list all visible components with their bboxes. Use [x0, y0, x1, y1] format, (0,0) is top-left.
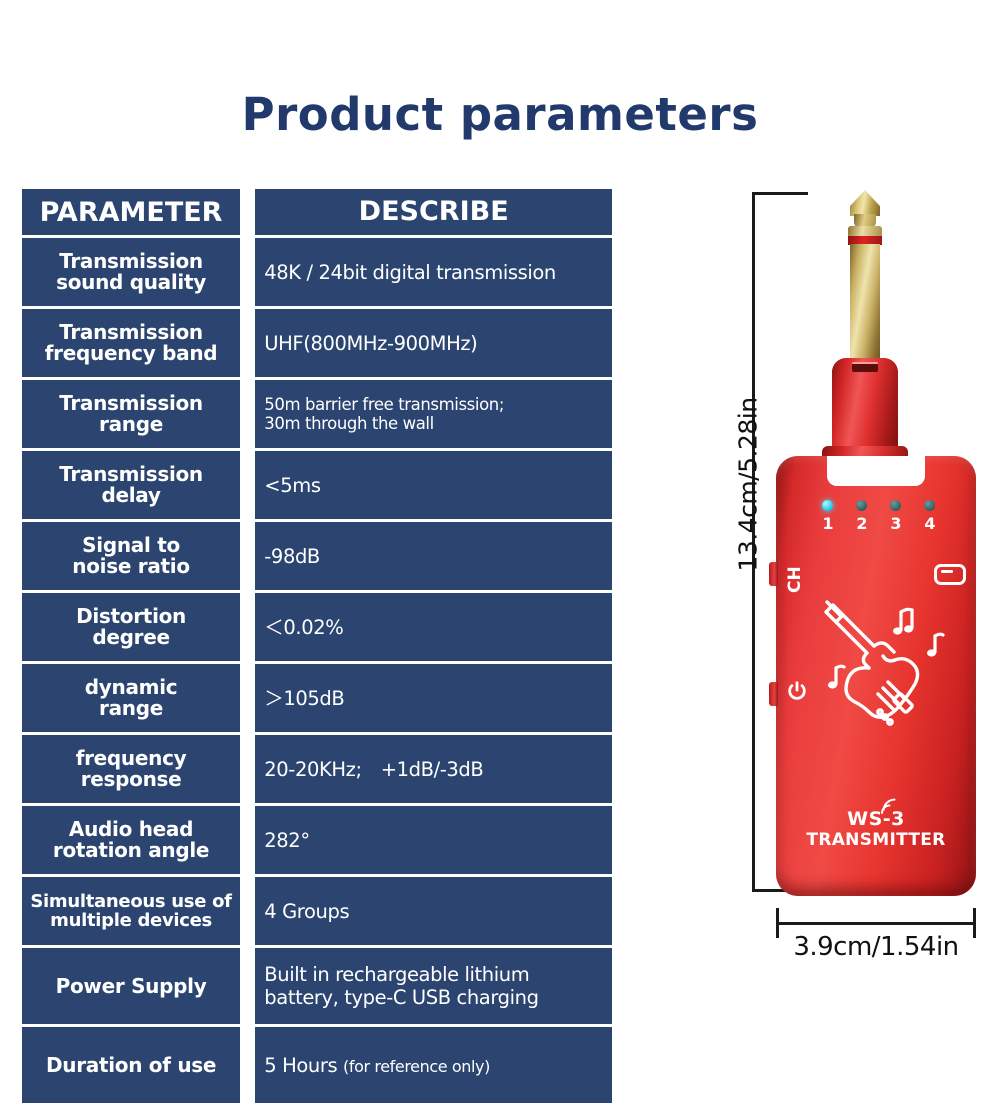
table-row: Simultaneous use of multiple devices 4 G… [22, 877, 612, 945]
desc-simultaneous-use: 4 Groups [255, 877, 612, 945]
jack-plug-shaft [850, 244, 880, 366]
width-dimension-label: 3.9cm/1.54in [766, 932, 986, 962]
param-simultaneous-use: Simultaneous use of multiple devices [22, 877, 240, 945]
param-line: sound quality [26, 272, 236, 294]
param-line: noise ratio [26, 556, 236, 578]
column-gap [240, 522, 255, 590]
jack-plug-tip-icon [850, 190, 880, 216]
table-row: Duration of use 5 Hours (for reference o… [22, 1027, 612, 1103]
column-gap [240, 948, 255, 1024]
desc-line: 20-20KHz; +1dB/-3dB [264, 758, 612, 781]
param-transmission-frequency-band: Transmission frequency band [22, 309, 240, 377]
channel-button[interactable] [769, 562, 778, 586]
table-header-describe: DESCRIBE [255, 189, 612, 235]
param-line: Audio head [26, 819, 236, 841]
table-row: dynamic range ＞105dB [22, 664, 612, 732]
led-label-2: 2 [852, 514, 872, 533]
param-line: Transmission [26, 322, 236, 344]
param-line: Signal to [26, 535, 236, 557]
param-line: rotation angle [26, 840, 236, 862]
table-row: Power Supply Built in rechargeable lithi… [22, 948, 612, 1024]
desc-line: battery, type-C USB charging [264, 986, 612, 1009]
param-transmission-range: Transmission range [22, 380, 240, 448]
param-line: frequency [26, 748, 236, 770]
desc-distortion-degree: ＜0.02% [255, 593, 612, 661]
desc-audio-head-rotation-angle: 282° [255, 806, 612, 874]
height-dimension-label: 13.4cm/5.28in [734, 385, 763, 585]
param-duration-of-use: Duration of use [22, 1027, 240, 1103]
desc-power-supply: Built in rechargeable lithium battery, t… [255, 948, 612, 1024]
param-dynamic-range: dynamic range [22, 664, 240, 732]
desc-line: ＞105dB [264, 687, 612, 710]
table-header-parameter: PARAMETER [22, 189, 240, 235]
duration-value: 5 Hours [264, 1054, 337, 1077]
led-indicator-1 [822, 500, 833, 511]
param-line: Transmission [26, 251, 236, 273]
desc-transmission-sound-quality: 48K / 24bit digital transmission [255, 238, 612, 306]
desc-line: Built in rechargeable lithium [264, 963, 612, 986]
table-row: Transmission range 50m barrier free tran… [22, 380, 612, 448]
table-header-row: PARAMETER DESCRIBE [22, 189, 612, 235]
table-row: Distortion degree ＜0.02% [22, 593, 612, 661]
param-frequency-response: frequency response [22, 735, 240, 803]
desc-dynamic-range: ＞105dB [255, 664, 612, 732]
param-line: Power Supply [26, 976, 236, 998]
column-gap [240, 451, 255, 519]
column-gap [240, 877, 255, 945]
param-line: Transmission [26, 393, 236, 415]
desc-line: 30m through the wall [264, 414, 612, 434]
param-line: delay [26, 485, 236, 507]
param-line: range [26, 414, 236, 436]
param-transmission-sound-quality: Transmission sound quality [22, 238, 240, 306]
channel-button-label: CH [785, 559, 805, 593]
table-row: Transmission delay <5ms [22, 451, 612, 519]
desc-transmission-frequency-band: UHF(800MHz-900MHz) [255, 309, 612, 377]
table-row: Transmission frequency band UHF(800MHz-9… [22, 309, 612, 377]
param-line: degree [26, 627, 236, 649]
device-type-label: TRANSMITTER [776, 830, 976, 850]
led-label-4: 4 [920, 514, 940, 533]
page-title: Product parameters [0, 88, 1000, 141]
param-line: frequency band [26, 343, 236, 365]
desc-line: <5ms [264, 474, 612, 497]
param-line: response [26, 769, 236, 791]
desc-transmission-range: 50m barrier free transmission; 30m throu… [255, 380, 612, 448]
table-row: Signal to noise ratio -98dB [22, 522, 612, 590]
desc-line: UHF(800MHz-900MHz) [264, 332, 612, 355]
led-indicator-4 [924, 500, 935, 511]
desc-line: 4 Groups [264, 900, 612, 923]
desc-line: 50m barrier free transmission; [264, 395, 612, 415]
desc-line: 282° [264, 829, 612, 852]
column-gap [240, 380, 255, 448]
height-dimension-tick-top [752, 192, 808, 195]
led-indicator-3 [890, 500, 901, 511]
device-illustration: 13.4cm/5.28in 3.9cm/1.54in 1 2 3 4 CH [700, 170, 1000, 960]
table-row: frequency response 20-20KHz; +1dB/-3dB [22, 735, 612, 803]
guitar-illustration-icon [804, 594, 954, 734]
led-label-3: 3 [886, 514, 906, 533]
param-line: dynamic [26, 677, 236, 699]
jack-plug-barrel [832, 358, 898, 454]
desc-line: 48K / 24bit digital transmission [264, 261, 612, 284]
param-line: Transmission [26, 464, 236, 486]
body-notch [827, 456, 925, 486]
desc-frequency-response: 20-20KHz; +1dB/-3dB [255, 735, 612, 803]
param-line: Distortion [26, 606, 236, 628]
param-line: multiple devices [26, 911, 236, 930]
param-power-supply: Power Supply [22, 948, 240, 1024]
duration-note: (for reference only) [343, 1057, 490, 1076]
desc-line: -98dB [264, 545, 612, 568]
param-distortion-degree: Distortion degree [22, 593, 240, 661]
power-button[interactable] [769, 682, 778, 706]
column-gap [240, 238, 255, 306]
param-line: range [26, 698, 236, 720]
product-parameters-table: PARAMETER DESCRIBE Transmission sound qu… [22, 186, 612, 1106]
usb-c-port-icon [934, 564, 966, 585]
desc-line: ＜0.02% [264, 616, 612, 639]
desc-transmission-delay: <5ms [255, 451, 612, 519]
column-gap [240, 806, 255, 874]
column-gap [240, 735, 255, 803]
param-audio-head-rotation-angle: Audio head rotation angle [22, 806, 240, 874]
led-label-1: 1 [818, 514, 838, 533]
device-model-label: WS-3 [776, 808, 976, 830]
led-indicator-2 [856, 500, 867, 511]
param-line: Duration of use [26, 1055, 236, 1077]
param-line: Simultaneous use of [26, 892, 236, 911]
table-row: Audio head rotation angle 282° [22, 806, 612, 874]
width-dimension-line [776, 922, 976, 925]
param-signal-to-noise-ratio: Signal to noise ratio [22, 522, 240, 590]
column-gap [240, 593, 255, 661]
column-gap [240, 664, 255, 732]
column-gap [240, 1027, 255, 1103]
column-gap [240, 309, 255, 377]
param-transmission-delay: Transmission delay [22, 451, 240, 519]
desc-duration-of-use: 5 Hours (for reference only) [255, 1027, 612, 1103]
column-gap [240, 189, 255, 235]
jack-plug-slot [852, 362, 878, 372]
desc-signal-to-noise-ratio: -98dB [255, 522, 612, 590]
table-row: Transmission sound quality 48K / 24bit d… [22, 238, 612, 306]
